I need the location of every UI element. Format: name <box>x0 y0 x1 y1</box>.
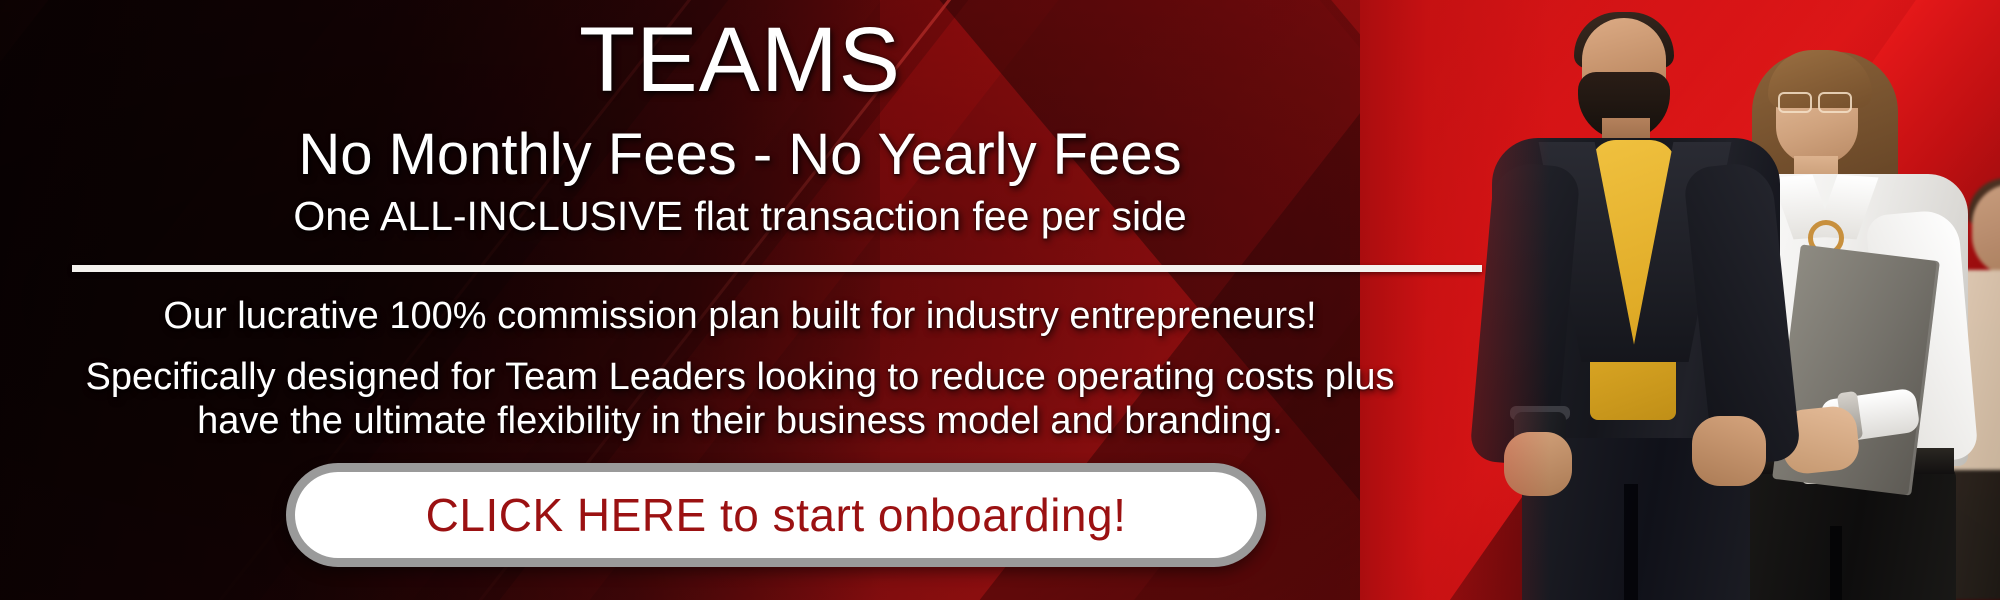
horizontal-divider <box>72 265 1482 272</box>
subtitle-secondary: One ALL-INCLUSIVE flat transaction fee p… <box>0 196 1480 237</box>
left-hand <box>1504 432 1572 496</box>
leg-separation <box>1624 484 1638 600</box>
cta-button-label: CLICK HERE to start onboarding! <box>426 488 1127 542</box>
person-bearded-man <box>1486 14 1786 600</box>
leg-separation <box>1830 526 1842 600</box>
right-hand <box>1692 416 1766 486</box>
cta-button[interactable]: CLICK HERE to start onboarding! <box>286 463 1266 567</box>
body-text-line-3: have the ultimate flexibility in their b… <box>0 400 1480 444</box>
page-title: TEAMS <box>0 14 1480 106</box>
glasses-icon <box>1778 92 1852 110</box>
body-text-block: Specifically designed for Team Leaders l… <box>0 356 1480 443</box>
subtitle-primary: No Monthly Fees - No Yearly Fees <box>0 126 1480 184</box>
body-text-line-1: Our lucrative 100% commission plan built… <box>0 297 1480 335</box>
promo-banner: TEAMS No Monthly Fees - No Yearly Fees O… <box>0 0 2000 600</box>
body-text-line-2: Specifically designed for Team Leaders l… <box>86 356 1395 398</box>
banner-content: TEAMS No Monthly Fees - No Yearly Fees O… <box>0 0 1480 600</box>
